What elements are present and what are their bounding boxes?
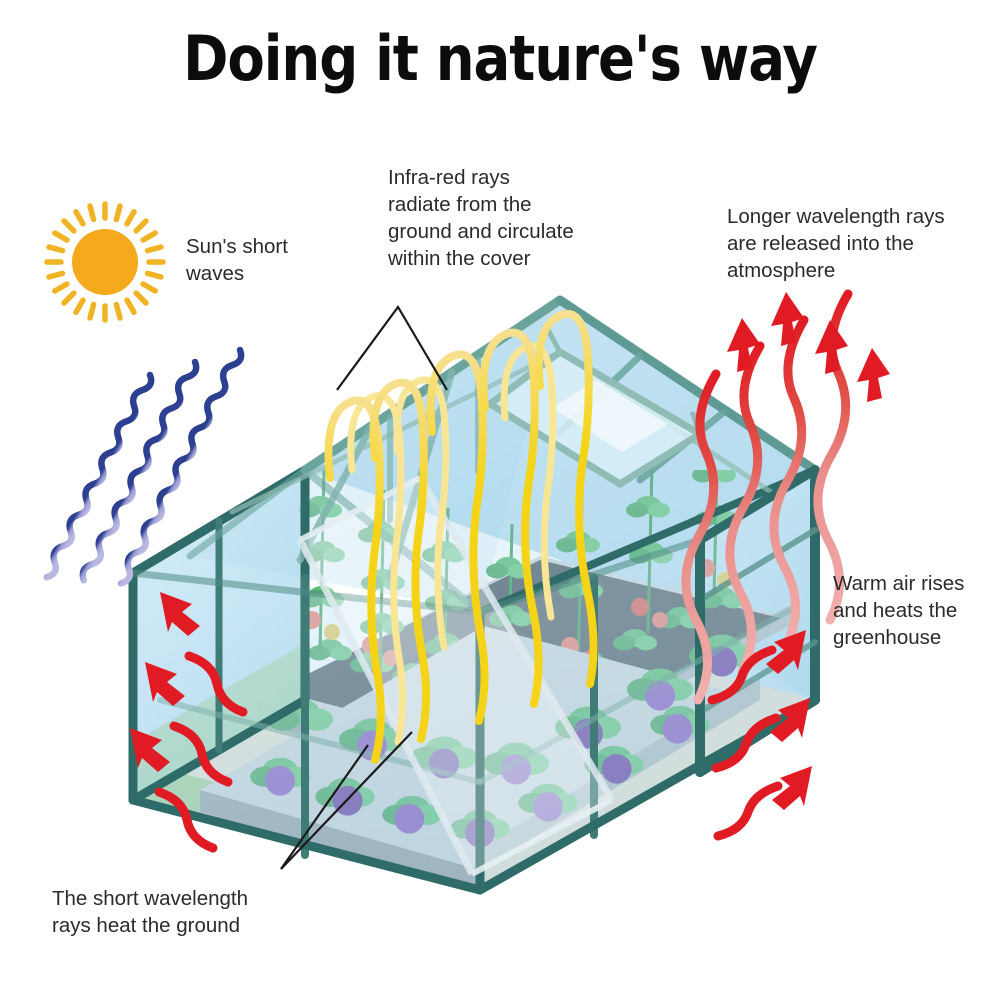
callout-suns-short-waves: Sun's short waves xyxy=(186,233,336,287)
sun-icon xyxy=(47,204,163,320)
callout-warm-air-rises: Warm air rises and heats the greenhouse xyxy=(833,570,993,651)
greenhouse-illustration xyxy=(0,0,1000,1000)
warm-air-arrowhead xyxy=(727,292,890,402)
callout-short-wavelength-ground: The short wavelength rays heat the groun… xyxy=(52,885,322,939)
callout-infra-red-rays: Infra-red rays radiate from the ground a… xyxy=(388,164,618,272)
infographic-canvas: Doing it nature's way xyxy=(0,0,1000,1000)
callout-longer-wavelength: Longer wavelength rays are released into… xyxy=(727,203,977,284)
